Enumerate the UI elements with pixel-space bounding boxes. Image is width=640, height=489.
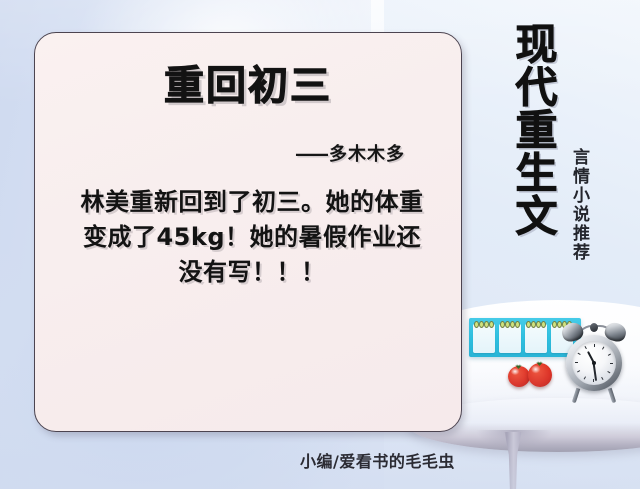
poster-root: 重回初三 ——多木木多 林美重新回到了初三。她的体重变成了45kg！她的暑假作业… xyxy=(0,0,640,489)
genre-subtitle: 言情小说推荐 xyxy=(567,148,590,262)
genre-headline: 现代重生文 xyxy=(505,22,555,237)
author-name: 多木木多 xyxy=(329,144,405,165)
book-title: 重回初三 xyxy=(35,53,461,111)
book-synopsis: 林美重新回到了初三。她的体重变成了45kg！她的暑假作业还没有写！！！ xyxy=(73,185,431,290)
book-author: ——多木木多 xyxy=(295,140,405,166)
content-card: 重回初三 ——多木木多 林美重新回到了初三。她的体重变成了45kg！她的暑假作业… xyxy=(34,32,462,432)
editor-credit: 小编/爱看书的毛毛虫 xyxy=(300,448,455,472)
author-dash: —— xyxy=(295,144,327,165)
